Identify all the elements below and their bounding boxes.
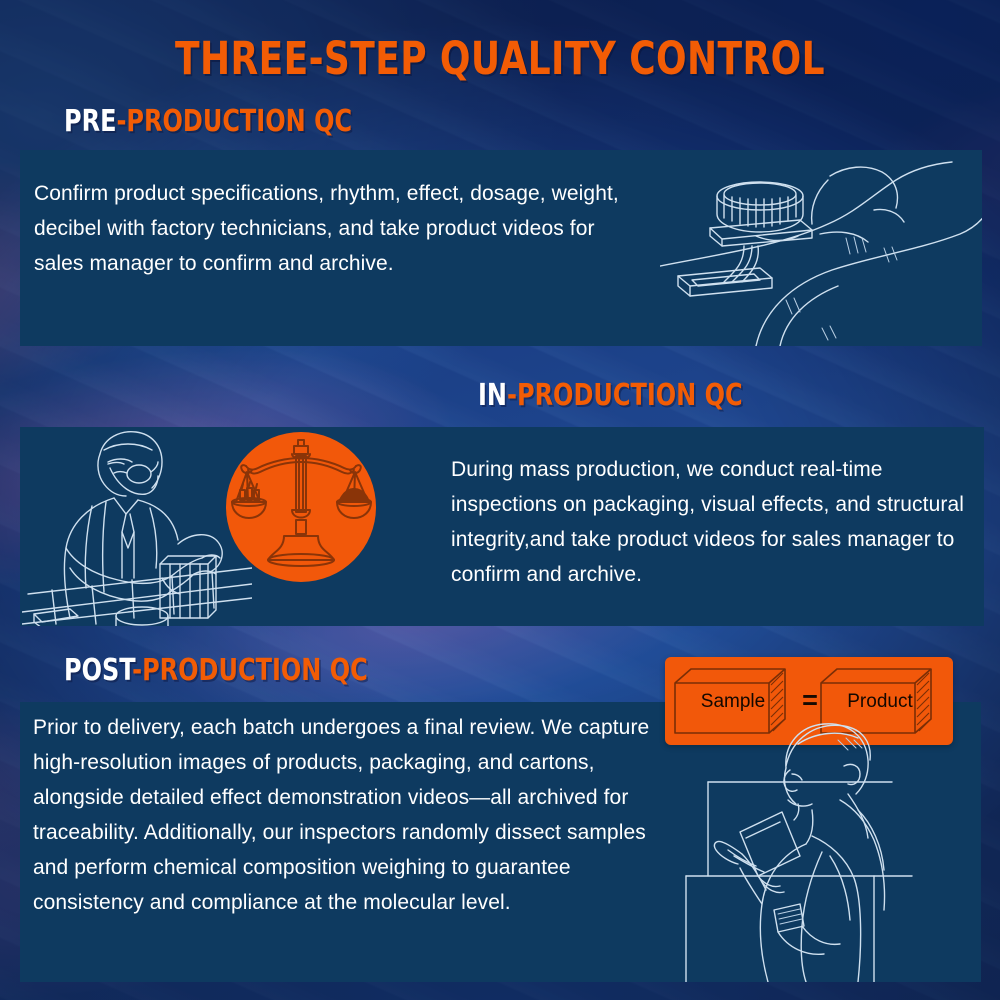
body-text-pre-production: Confirm product specifications, rhythm, … <box>34 176 634 281</box>
step-title-pre-production: PRE-PRODUCTION QC <box>64 104 352 139</box>
equals-sign: = <box>793 683 827 717</box>
step-title-post-production-suffix: -PRODUCTION QC <box>132 653 368 688</box>
page-title: THREE-STEP QUALITY CONTROL <box>100 32 900 85</box>
sample-equals-product-badge: Sample = Product <box>665 657 953 745</box>
step-title-in-production: IN-PRODUCTION QC <box>478 378 743 413</box>
body-text-in-production: During mass production, we conduct real-… <box>451 452 987 592</box>
balance-scale-icon <box>226 432 376 582</box>
step-title-post-production-prefix: POST <box>64 653 132 688</box>
step-title-pre-production-suffix: -PRODUCTION QC <box>116 104 352 139</box>
step-title-pre-production-prefix: PRE <box>64 104 116 139</box>
step-title-in-production-prefix: IN <box>478 378 507 413</box>
body-text-post-production: Prior to delivery, each batch undergoes … <box>33 710 663 920</box>
product-label: Product <box>830 691 930 713</box>
step-title-post-production: POST-PRODUCTION QC <box>64 653 368 688</box>
sample-label: Sample <box>683 691 783 713</box>
step-title-in-production-suffix: -PRODUCTION QC <box>507 378 743 413</box>
